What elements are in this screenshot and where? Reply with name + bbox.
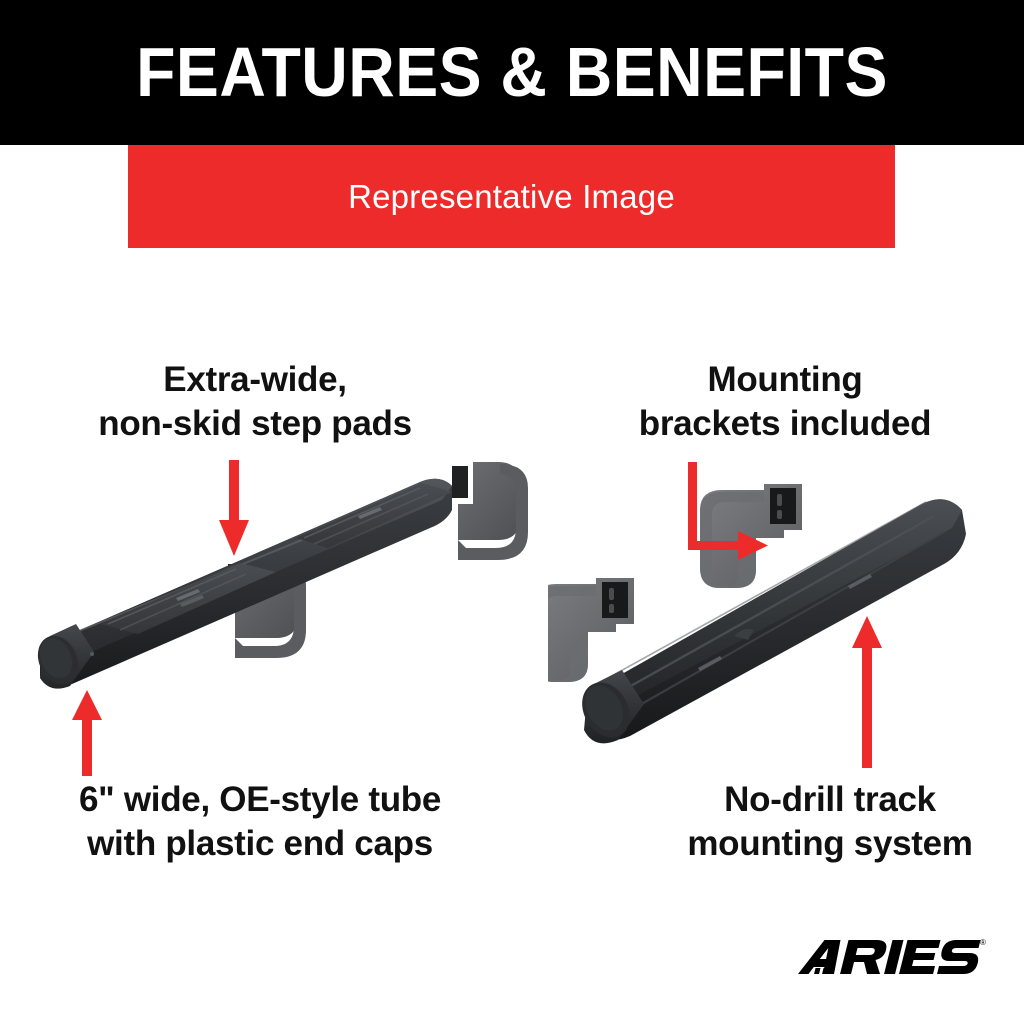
running-board-assembled-illustration [28,448,548,708]
callout-no-drill-track: No-drill track mounting system [630,778,1024,866]
registered-trademark-symbol: ® [980,938,986,947]
arrow-elbow-right-icon [688,460,768,560]
mounting-bracket-rear [448,462,528,560]
callout-step-pads: Extra-wide, non-skid step pads [10,358,500,446]
arrow-down-icon [218,460,250,556]
arrow-down-step-pads [218,460,250,556]
product-image-underside [548,468,1008,748]
arrow-up-icon [850,616,884,768]
arrow-elbow-mounting-brackets [688,460,768,560]
arrow-up-oe-tube [70,690,104,776]
callout-mounting-brackets: Mounting brackets included [540,358,1024,446]
running-board-underside-illustration [548,468,1008,748]
header-bar: FEATURES & BENEFITS [0,0,1024,145]
aries-wordmark-icon: ® [790,934,990,982]
arrow-up-no-drill-track [850,616,884,768]
mounting-bracket-lower [548,578,634,682]
representative-image-banner: Representative Image [128,145,895,248]
infographic-page: FEATURES & BENEFITS Representative Image… [0,0,1024,1024]
aries-logo: ® [790,934,990,982]
arrow-up-icon [70,690,104,776]
banner-label: Representative Image [128,145,895,248]
callout-oe-tube: 6" wide, OE-style tube with plastic end … [5,778,515,866]
product-image-assembled [28,448,548,708]
page-title: FEATURES & BENEFITS [41,34,983,110]
